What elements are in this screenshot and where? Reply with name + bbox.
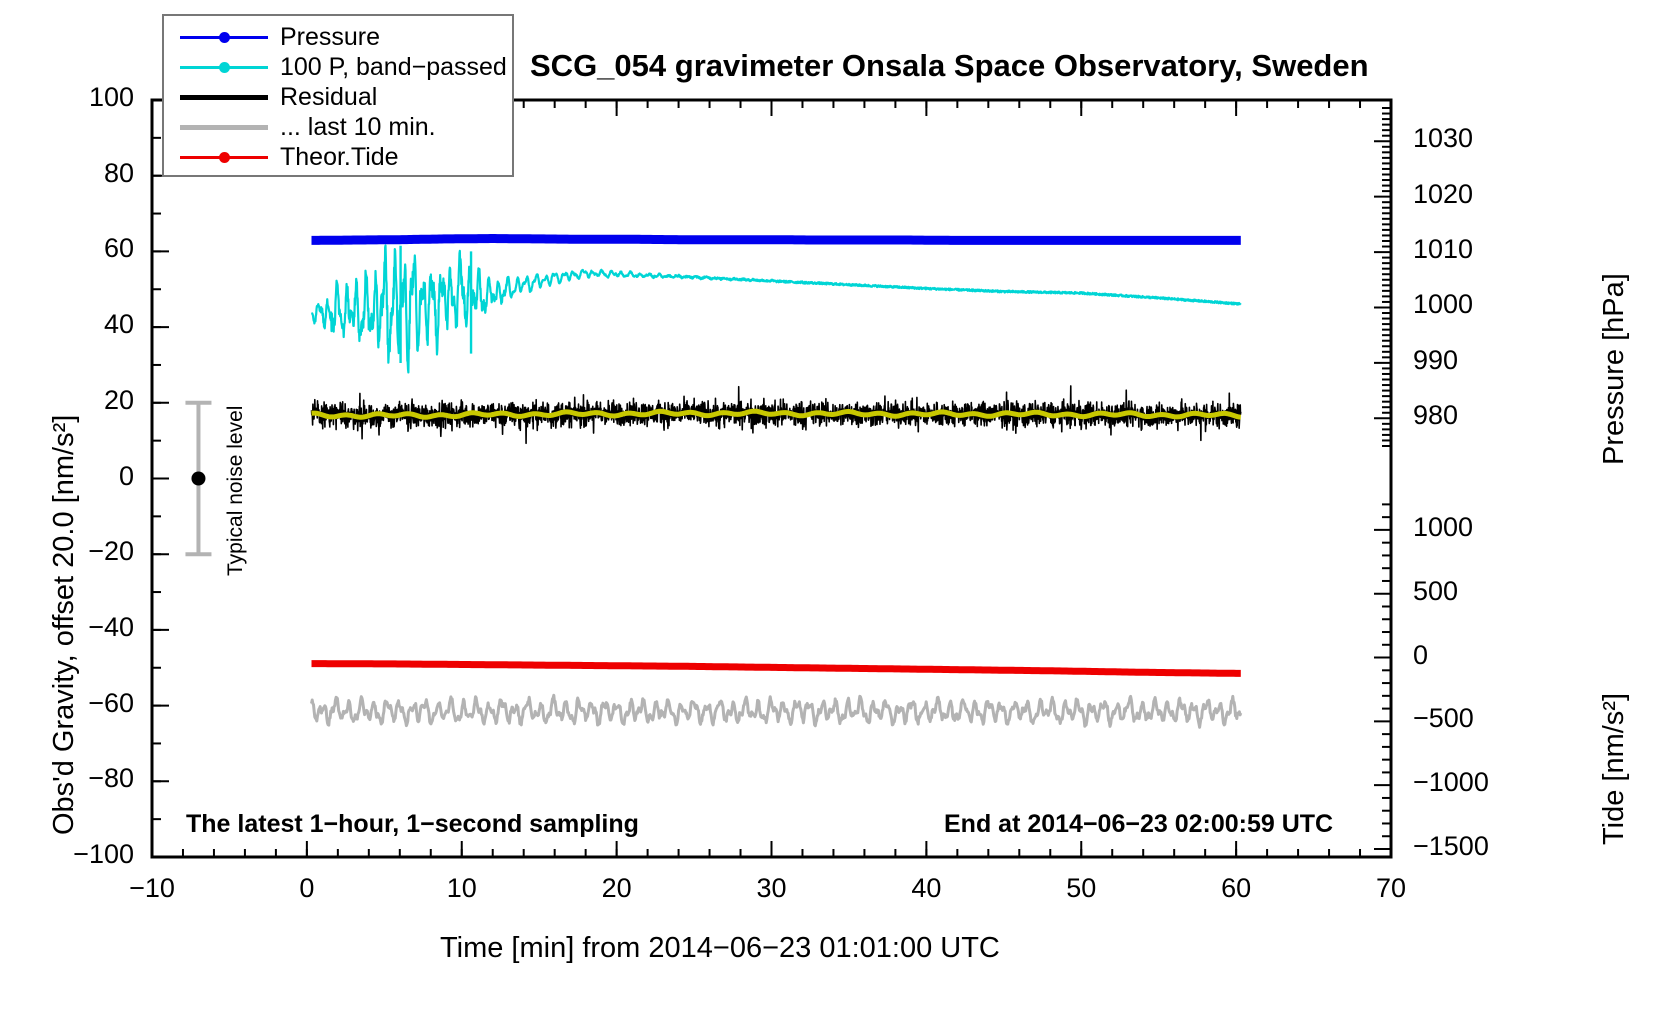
series-band-passed bbox=[312, 245, 1241, 372]
legend-swatch-icon bbox=[180, 112, 268, 142]
y-axis-tide-tick-label: −1500 bbox=[1413, 831, 1489, 862]
legend-swatch-icon bbox=[180, 22, 268, 52]
chart-legend: Pressure100 P, band−passedResidual... la… bbox=[162, 14, 514, 177]
x-axis-tick-label: 60 bbox=[1186, 873, 1286, 904]
x-axis-tick-label: 50 bbox=[1031, 873, 1131, 904]
annotation-sampling-info: The latest 1−hour, 1−second sampling bbox=[186, 810, 639, 839]
y-axis-pressure-tick-label: 980 bbox=[1413, 400, 1458, 431]
series-pressure bbox=[312, 239, 1241, 241]
series-last-10-min bbox=[312, 695, 1241, 727]
y-axis-left-tick-label: 40 bbox=[2, 309, 134, 340]
y-axis-left-tick-label: 20 bbox=[2, 385, 134, 416]
x-axis-tick-label: 20 bbox=[567, 873, 667, 904]
x-axis-title: Time [min] from 2014−06−23 01:01:00 UTC bbox=[440, 932, 1000, 965]
x-axis-tick-label: −10 bbox=[102, 873, 202, 904]
y-axis-tide-tick-label: −500 bbox=[1413, 703, 1474, 734]
legend-item[interactable]: ... last 10 min. bbox=[164, 112, 512, 142]
y-axis-left-tick-label: 0 bbox=[2, 461, 134, 492]
series-theoretical-tide bbox=[312, 664, 1241, 674]
y-axis-pressure-tick-label: 1020 bbox=[1413, 179, 1473, 210]
legend-item[interactable]: Residual bbox=[164, 82, 512, 112]
y-axis-tide-tick-label: 1000 bbox=[1413, 512, 1473, 543]
x-axis-tick-label: 0 bbox=[257, 873, 357, 904]
x-axis-tick-label: 30 bbox=[722, 873, 822, 904]
annotation-end-time: End at 2014−06−23 02:00:59 UTC bbox=[944, 810, 1333, 839]
y-axis-left-tick-label: −80 bbox=[2, 763, 134, 794]
page-title: SCG_054 gravimeter Onsala Space Observat… bbox=[530, 48, 1369, 84]
y-axis-right-pressure-title: Pressure [hPa] bbox=[1598, 273, 1631, 465]
y-axis-tide-tick-label: 0 bbox=[1413, 640, 1428, 671]
legend-swatch-icon bbox=[180, 142, 268, 172]
legend-item[interactable]: Pressure bbox=[164, 22, 512, 52]
y-axis-left-tick-label: −20 bbox=[2, 536, 134, 567]
y-axis-right-tide-title: Tide [nm/s²] bbox=[1598, 693, 1631, 845]
legend-item-label: 100 P, band−passed bbox=[280, 53, 507, 82]
y-axis-tide-tick-label: −1000 bbox=[1413, 767, 1489, 798]
y-axis-pressure-tick-label: 990 bbox=[1413, 345, 1458, 376]
noise-level-label: Typical noise level bbox=[224, 406, 248, 576]
y-axis-pressure-tick-label: 1000 bbox=[1413, 289, 1473, 320]
y-axis-left-tick-label: 100 bbox=[2, 82, 134, 113]
y-axis-left-tick-label: −60 bbox=[2, 688, 134, 719]
x-axis-tick-label: 70 bbox=[1341, 873, 1441, 904]
legend-swatch-icon bbox=[180, 82, 268, 112]
y-axis-pressure-tick-label: 1030 bbox=[1413, 123, 1473, 154]
y-axis-left-tick-label: 80 bbox=[2, 158, 134, 189]
legend-item-label: ... last 10 min. bbox=[280, 113, 436, 142]
y-axis-tide-tick-label: 500 bbox=[1413, 576, 1458, 607]
legend-item-label: Theor.Tide bbox=[280, 143, 399, 172]
legend-item-label: Pressure bbox=[280, 23, 380, 52]
legend-item-label: Residual bbox=[280, 83, 377, 112]
legend-item[interactable]: Theor.Tide bbox=[164, 142, 512, 172]
noise-level-center-dot bbox=[191, 472, 205, 486]
x-axis-tick-label: 40 bbox=[876, 873, 976, 904]
plot-frame bbox=[152, 100, 1391, 857]
legend-item[interactable]: 100 P, band−passed bbox=[164, 52, 512, 82]
x-axis-tick-label: 10 bbox=[412, 873, 512, 904]
y-axis-left-tick-label: −100 bbox=[2, 839, 134, 870]
y-axis-pressure-tick-label: 1010 bbox=[1413, 234, 1473, 265]
legend-swatch-icon bbox=[180, 52, 268, 82]
y-axis-left-tick-label: −40 bbox=[2, 612, 134, 643]
y-axis-left-tick-label: 60 bbox=[2, 233, 134, 264]
